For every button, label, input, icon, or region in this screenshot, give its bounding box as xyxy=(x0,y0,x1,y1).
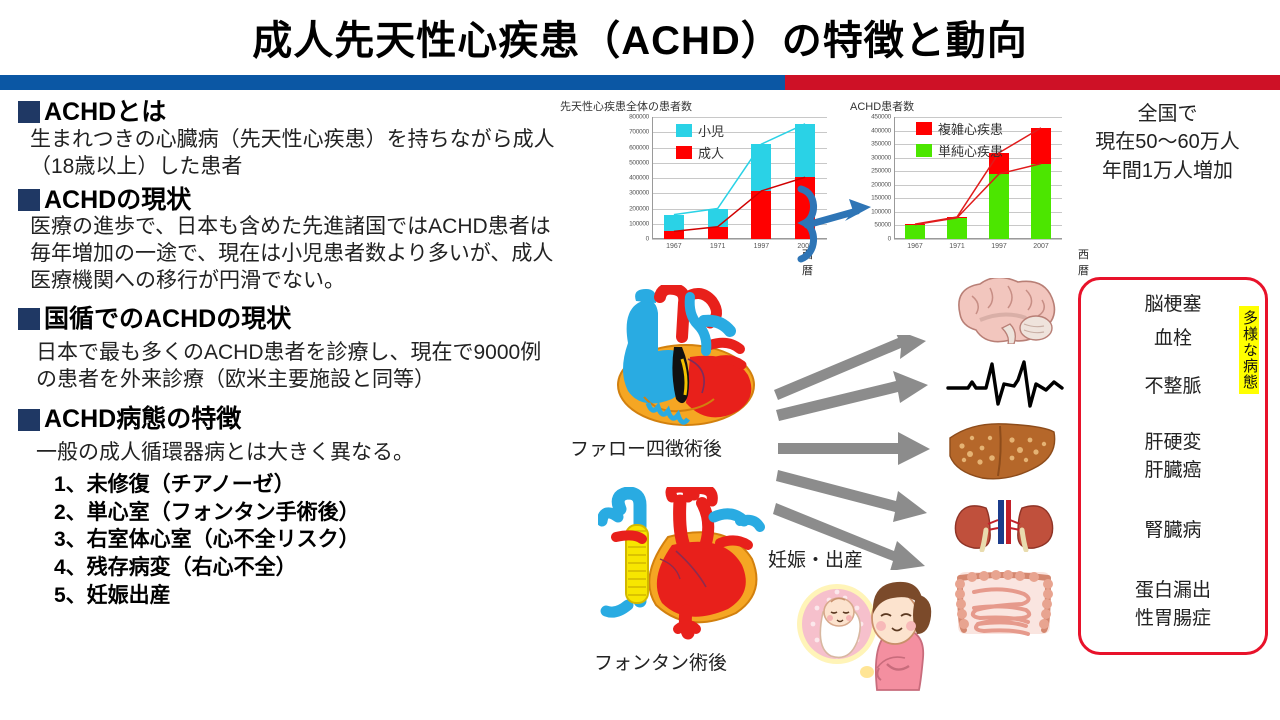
national-statistics-text: 全国で 現在50〜60万人 年間1万人増加 xyxy=(1060,100,1275,185)
chart-legend-swatch xyxy=(916,122,932,135)
chart-2-title: ACHD患者数 xyxy=(850,98,1062,114)
pregnancy-illustration xyxy=(795,572,935,704)
list-item: 1、未修復（チアノーゼ） xyxy=(54,471,560,499)
section-heading-3-label: 国循でのACHDの現状 xyxy=(44,305,291,334)
chart-y-tick: 50000 xyxy=(874,222,891,229)
chart-bar-segment xyxy=(708,227,728,239)
radiating-arrows-group xyxy=(770,335,970,570)
chart-y-tick: 200000 xyxy=(871,181,891,188)
chart-2-plot-area: 0500001000001500002000002500003000003500… xyxy=(894,117,1062,239)
chart-bar-segment xyxy=(989,174,1008,239)
title-rule-blue xyxy=(0,75,785,90)
chart-x-tick: 1971 xyxy=(710,243,726,250)
chart-legend-label: 小児 xyxy=(698,121,724,140)
bullet-square-icon xyxy=(18,409,40,431)
section-heading-3: 国循でのACHDの現状 xyxy=(18,305,560,334)
chart-bar xyxy=(751,144,771,239)
section-heading-4: ACHD病態の特徴 xyxy=(18,405,560,434)
heart-fontan-caption: フォンタン術後 xyxy=(594,648,727,675)
chart-legend: 小児成人 xyxy=(676,121,724,162)
chart-bar xyxy=(905,224,924,239)
intestine-image xyxy=(948,568,1060,638)
chart-bar-segment xyxy=(795,124,815,177)
section-body-4: 一般の成人循環器病とは大きく異なる。 xyxy=(36,440,560,467)
chart-legend-swatch xyxy=(676,124,692,137)
left-content-column: ACHDとは 生まれつきの心臓病（先天性心疾患）を持ちながら成人（18歳以上）し… xyxy=(0,98,560,610)
section-heading-1-label: ACHDとは xyxy=(44,98,166,127)
chart-total-chd-patients: 先天性心疾患全体の患者数 010000020000030000040000050… xyxy=(560,98,781,239)
chart-bar-segment xyxy=(1031,128,1050,164)
page-title: 成人先天性心疾患（ACHD）の特徴と動向 xyxy=(0,8,1280,66)
section-heading-4-label: ACHD病態の特徴 xyxy=(44,405,241,434)
brain-image xyxy=(950,278,1065,344)
chart-legend-swatch xyxy=(676,146,692,159)
complication-item: 血栓 xyxy=(1081,328,1265,351)
arrow-to-ecg xyxy=(776,371,928,421)
stat-line-1: 全国で xyxy=(1060,100,1275,128)
list-item: 4、残存病変（右心不全） xyxy=(54,554,560,582)
section-heading-2: ACHDの現状 xyxy=(18,186,560,215)
complication-item: 不整脈 xyxy=(1081,376,1265,399)
chart-x-tick: 1997 xyxy=(991,243,1007,250)
chart-bar-segment xyxy=(947,217,966,218)
chart-y-tick: 100000 xyxy=(871,208,891,215)
section-body-2: 医療の進歩で、日本も含めた先進諸国ではACHD患者は毎年増加の一途で、現在は小児… xyxy=(30,214,557,295)
chart-bar xyxy=(708,209,728,240)
pathology-numbered-list: 1、未修復（チアノーゼ） 2、単心室（フォンタン手術後） 3、右室体心室（心不全… xyxy=(54,471,560,610)
chart-bar-segment xyxy=(751,144,771,191)
chart-bar-segment xyxy=(664,231,684,239)
chart-2-xaxis-label: 西暦 xyxy=(1078,246,1089,278)
chart-y-tick: 400000 xyxy=(871,127,891,134)
kidney-image xyxy=(952,498,1056,552)
chart-bar-segment xyxy=(905,225,924,239)
bullet-square-icon xyxy=(18,189,40,211)
chart-y-tick: 250000 xyxy=(871,168,891,175)
heart-fallot-caption: ファロー四徴術後 xyxy=(570,434,722,461)
heart-fallot-illustration xyxy=(598,285,773,430)
chart-legend-item: 複雑心疾患 xyxy=(916,119,1003,138)
chart-bar-segment xyxy=(947,218,966,239)
section-achd-current: ACHDの現状 医療の進歩で、日本も含めた先進諸国ではACHD患者は毎年増加の一… xyxy=(0,186,560,295)
section-heading-1: ACHDとは xyxy=(18,98,560,127)
chart-x-tick: 2007 xyxy=(1033,243,1049,250)
section-body-1: 生まれつきの心臓病（先天性心疾患）を持ちながら成人（18歳以上）した患者 xyxy=(30,127,562,181)
chart-y-tick: 100000 xyxy=(629,220,649,227)
complication-item: 肝硬変 xyxy=(1081,432,1265,455)
chart-bar-segment xyxy=(664,215,684,232)
pregnancy-caption: 妊娠・出産 xyxy=(768,545,863,572)
chart-gridline xyxy=(652,117,827,118)
chart-y-tick: 300000 xyxy=(871,154,891,161)
chart-y-tick: 0 xyxy=(888,236,891,243)
list-item: 3、右室体心室（心不全リスク） xyxy=(54,526,560,554)
chart-bar xyxy=(947,217,966,239)
chart-y-axis xyxy=(894,117,895,239)
chart-legend-label: 単純心疾患 xyxy=(938,141,1003,160)
section-pathology-features: ACHD病態の特徴 一般の成人循環器病とは大きく異なる。 1、未修復（チアノーゼ… xyxy=(0,405,560,609)
chart-legend-item: 成人 xyxy=(676,143,724,162)
liver-image xyxy=(946,420,1058,482)
chart-legend-label: 成人 xyxy=(698,143,724,162)
arrow-to-liver xyxy=(778,432,930,465)
chart-gridline xyxy=(894,117,1062,118)
chart-achd-patients: ACHD患者数 05000010000015000020000025000030… xyxy=(850,98,1062,239)
chart-legend-item: 単純心疾患 xyxy=(916,141,1003,160)
chart-y-tick: 450000 xyxy=(871,114,891,121)
chart-y-tick: 300000 xyxy=(629,190,649,197)
diverse-pathology-tag: 多様な病態 xyxy=(1239,306,1259,394)
chart-x-tick: 1967 xyxy=(907,243,923,250)
title-rule-red xyxy=(785,75,1280,90)
complication-item: 腎臓病 xyxy=(1081,520,1265,543)
section-heading-2-label: ACHDの現状 xyxy=(44,186,191,215)
chart-y-tick: 150000 xyxy=(871,195,891,202)
section-kokujun-current: 国循でのACHDの現状 日本で最も多くのACHD患者を診療し、現在で9000例の… xyxy=(0,305,560,394)
chart-legend-swatch xyxy=(916,144,932,157)
chart-bar xyxy=(664,215,684,239)
list-item: 5、妊娠出産 xyxy=(54,582,560,610)
chart-x-tick: 1997 xyxy=(754,243,770,250)
chart-y-tick: 500000 xyxy=(629,159,649,166)
chart-1-title: 先天性心疾患全体の患者数 xyxy=(560,98,781,114)
slide-canvas: 成人先天性心疾患（ACHD）の特徴と動向 ACHDとは 生まれつきの心臓病（先天… xyxy=(0,0,1280,720)
chart-y-tick: 600000 xyxy=(629,144,649,151)
chart-bar-segment xyxy=(708,209,728,227)
chart-bar xyxy=(989,153,1008,239)
chart-bar xyxy=(1031,128,1050,239)
complication-item: 肝臓癌 xyxy=(1081,460,1265,483)
bullet-square-icon xyxy=(18,101,40,123)
bullet-square-icon xyxy=(18,308,40,330)
section-achd-definition: ACHDとは 生まれつきの心臓病（先天性心疾患）を持ちながら成人（18歳以上）し… xyxy=(0,98,560,181)
complication-item: 脳梗塞 xyxy=(1081,294,1265,317)
chart-y-axis xyxy=(652,117,653,239)
complication-item: 蛋白漏出 xyxy=(1081,580,1265,603)
heart-fontan-illustration xyxy=(598,487,778,642)
section-body-3: 日本で最も多くのACHD患者を診療し、現在で9000例の患者を外来診療（欧米主要… xyxy=(36,340,556,394)
complication-item: 性胃腸症 xyxy=(1081,608,1265,631)
stat-line-2: 現在50〜60万人 xyxy=(1060,128,1275,156)
chart-bar-segment xyxy=(751,191,771,239)
chart-bar-segment xyxy=(905,224,924,225)
chart-y-tick: 800000 xyxy=(629,114,649,121)
stat-line-3: 年間1万人増加 xyxy=(1060,157,1275,185)
chart-legend: 複雑心疾患単純心疾患 xyxy=(916,119,1003,160)
chart-y-tick: 400000 xyxy=(629,175,649,182)
chart-y-tick: 350000 xyxy=(871,141,891,148)
chart-bar-segment xyxy=(1031,164,1050,239)
ecg-waveform-image xyxy=(946,360,1064,408)
chart-x-tick: 1967 xyxy=(666,243,682,250)
chart-x-tick: 1971 xyxy=(949,243,965,250)
complications-box: 脳梗塞 血栓 不整脈 肝硬変 肝臓癌 腎臓病 蛋白漏出 性胃腸症 多様な病態 xyxy=(1078,277,1268,655)
chart-legend-label: 複雑心疾患 xyxy=(938,119,1003,138)
chart-legend-item: 小児 xyxy=(676,121,724,140)
chart-y-tick: 200000 xyxy=(629,205,649,212)
chart-y-tick: 700000 xyxy=(629,129,649,136)
chart-y-tick: 0 xyxy=(646,236,649,243)
chart-gridline xyxy=(894,239,1062,240)
list-item: 2、単心室（フォンタン手術後） xyxy=(54,499,560,527)
